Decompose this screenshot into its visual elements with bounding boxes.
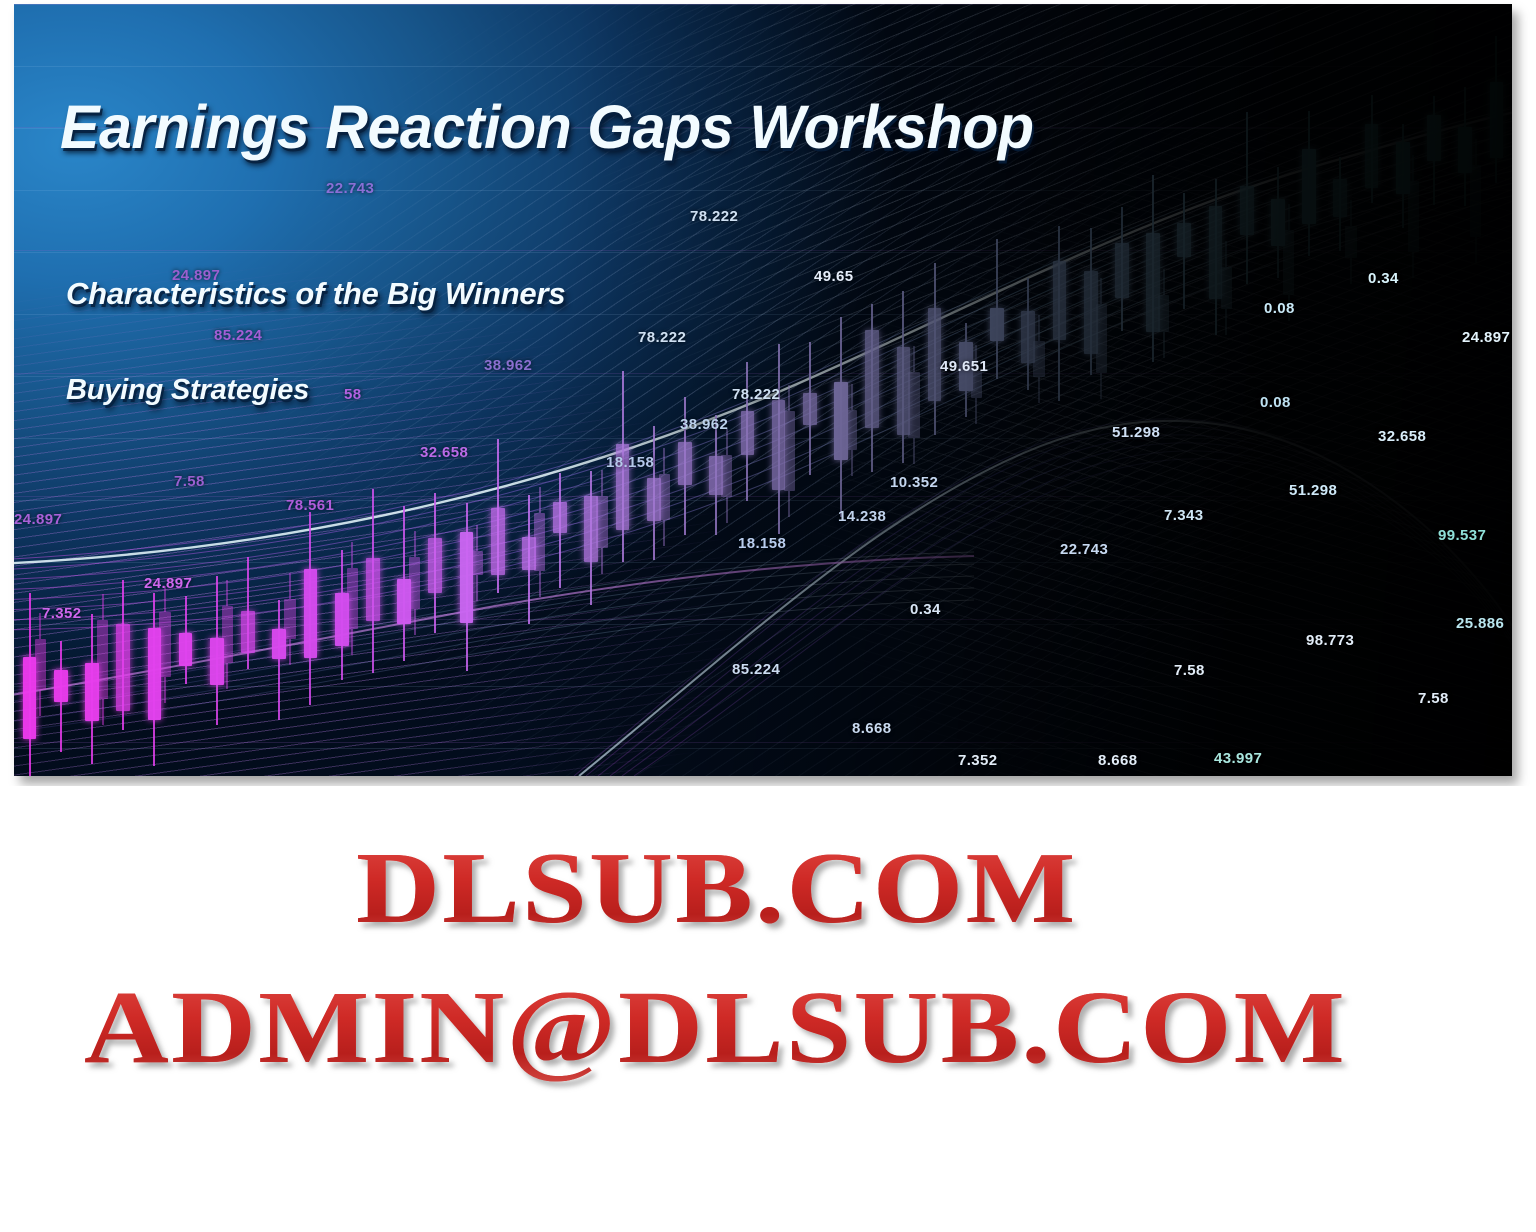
candlestick	[1053, 226, 1067, 401]
candlestick	[460, 503, 474, 671]
watermark-block: DLSUB.COM DLSUB.COM ADMIN@DLSUB.COM ADMI…	[0, 786, 1536, 1232]
candlestick	[428, 493, 442, 634]
price-label: 58	[344, 386, 362, 403]
price-label: 85.224	[732, 661, 780, 678]
price-label: 7.352	[42, 605, 82, 622]
candle-wick	[278, 600, 280, 720]
candlestick	[928, 263, 942, 436]
watermark-domain-outline: DLSUB.COM	[356, 830, 1077, 947]
candle-body	[491, 508, 505, 576]
candlestick	[990, 239, 1004, 379]
candlestick	[1333, 157, 1347, 251]
candle-body	[335, 593, 349, 646]
candlestick	[865, 304, 879, 472]
candle-body	[865, 330, 879, 428]
candle-body	[741, 411, 755, 455]
candlestick	[1396, 124, 1410, 228]
price-label: 24.897	[144, 575, 192, 592]
candle-body	[803, 393, 817, 425]
price-label: 49.65	[814, 268, 854, 285]
candlestick	[522, 495, 536, 624]
price-label: 0.08	[1264, 300, 1295, 317]
price-label: 32.658	[420, 444, 468, 461]
candlestick	[148, 593, 162, 766]
candlestick	[304, 512, 318, 706]
candle-body	[772, 400, 786, 490]
price-label: 38.962	[484, 357, 532, 374]
candlestick	[1271, 167, 1285, 278]
candlestick	[241, 557, 255, 669]
candlestick	[54, 641, 68, 751]
price-label: 78.222	[690, 208, 738, 225]
candlestick	[772, 344, 786, 534]
price-label: 7.58	[174, 473, 205, 490]
candlestick	[335, 550, 349, 680]
candle-body	[1271, 199, 1285, 246]
candlestick	[709, 415, 723, 535]
price-label: 18.158	[738, 535, 786, 552]
candle-body	[428, 538, 442, 593]
candle-body	[1365, 124, 1379, 188]
candle-body	[1021, 311, 1035, 363]
candle-body	[210, 638, 224, 685]
candle-body	[397, 579, 411, 625]
price-label: 7.58	[1418, 690, 1449, 707]
candlestick	[179, 596, 193, 684]
candlestick	[85, 614, 99, 764]
price-label: 18.158	[606, 454, 654, 471]
price-label: 78.222	[638, 329, 686, 346]
price-label: 49.651	[940, 358, 988, 375]
price-label: 8.668	[852, 720, 892, 737]
candlestick	[1177, 193, 1191, 309]
price-label: 98.773	[1306, 632, 1354, 649]
candle-body	[241, 611, 255, 653]
candle-body	[1458, 127, 1472, 172]
subtitle-characteristics: Characteristics of the Big Winners	[66, 276, 565, 312]
candle-body	[678, 442, 692, 485]
candle-body	[1084, 271, 1098, 354]
candlestick	[897, 291, 911, 464]
candle-body	[179, 633, 193, 666]
watermark-email-outline: ADMIN@DLSUB.COM	[84, 968, 1347, 1087]
candle-body	[709, 456, 723, 495]
candlestick	[1021, 278, 1035, 390]
candle-body	[1427, 115, 1441, 161]
candle-body	[85, 663, 99, 721]
price-label: 8.668	[1098, 752, 1138, 769]
price-label: 22.743	[326, 180, 374, 197]
candlestick	[1084, 228, 1098, 375]
price-label: 7.58	[1174, 662, 1205, 679]
candlestick	[366, 489, 380, 673]
price-label: 43.997	[1214, 750, 1262, 767]
candlestick	[491, 439, 505, 593]
candle-body	[1240, 186, 1254, 235]
candle-body	[1209, 206, 1223, 299]
candle-body	[1146, 233, 1160, 331]
candle-body	[834, 382, 848, 460]
price-label: 25.886	[1456, 615, 1504, 632]
candle-body	[897, 347, 911, 435]
candle-body	[304, 569, 318, 658]
candle-body	[1490, 82, 1504, 158]
candle-body	[366, 558, 380, 621]
price-label: 24.897	[14, 511, 62, 528]
price-label: 51.298	[1289, 482, 1337, 499]
candle-body	[647, 478, 661, 521]
candle-body	[148, 628, 162, 720]
price-label: 7.343	[1164, 507, 1204, 524]
candlestick	[1490, 36, 1504, 184]
candlestick	[1146, 175, 1160, 362]
candlestick	[1427, 96, 1441, 205]
candlestick	[803, 342, 817, 475]
candlestick	[741, 362, 755, 501]
price-label: 85.224	[214, 327, 262, 344]
page-title: Earnings Reaction Gaps Workshop	[60, 92, 1034, 162]
candle-body	[1115, 243, 1129, 298]
candle-body	[553, 502, 567, 533]
hero-banner-image: 22.74378.22249.6524.89778.22285.22438.96…	[14, 4, 1512, 776]
candlestick	[272, 600, 286, 720]
candle-body	[1302, 149, 1316, 224]
candlestick	[584, 471, 598, 605]
candlestick	[1302, 111, 1316, 255]
price-label: 99.537	[1438, 527, 1486, 544]
price-label: 7.352	[958, 752, 998, 769]
price-label: 10.352	[890, 474, 938, 491]
candle-body	[584, 496, 598, 562]
price-label: 0.08	[1260, 394, 1291, 411]
candlestick	[1115, 207, 1129, 330]
candlestick	[397, 506, 411, 661]
candlestick	[1209, 179, 1223, 335]
candle-body	[928, 308, 942, 402]
candlestick	[116, 580, 130, 730]
candle-body	[1053, 261, 1067, 339]
candlestick	[23, 593, 37, 776]
candlestick	[834, 317, 848, 517]
candlestick	[1365, 95, 1379, 203]
candle-body	[1333, 179, 1347, 218]
price-label: 0.34	[910, 601, 941, 618]
price-label: 22.743	[1060, 541, 1108, 558]
price-label: 32.658	[1378, 428, 1426, 445]
candle-body	[460, 532, 474, 623]
candlestick	[553, 473, 567, 588]
candle-body	[54, 670, 68, 702]
price-label: 0.34	[1368, 270, 1399, 287]
candle-body	[522, 537, 536, 570]
price-label: 24.897	[1462, 329, 1510, 346]
candle-body	[116, 624, 130, 711]
price-label: 38.962	[680, 416, 728, 433]
candle-body	[23, 657, 37, 739]
candle-body	[1396, 142, 1410, 194]
candle-body	[990, 308, 1004, 341]
subtitle-buying-strategies: Buying Strategies	[66, 374, 309, 407]
price-label: 51.298	[1112, 424, 1160, 441]
candlestick	[1458, 87, 1472, 206]
price-label: 78.222	[732, 386, 780, 403]
candle-body	[1177, 223, 1191, 257]
candle-body	[272, 629, 286, 659]
price-label: 78.561	[286, 497, 334, 514]
candlestick	[647, 426, 661, 559]
candlestick	[210, 576, 224, 725]
price-label: 14.238	[838, 508, 886, 525]
candlestick	[1240, 112, 1254, 283]
